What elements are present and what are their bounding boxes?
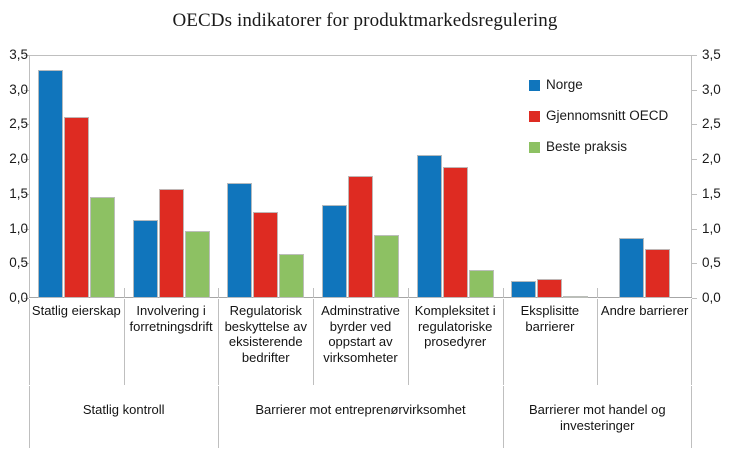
y-tick-right-7: [692, 55, 697, 56]
group-label-0: Statlig kontroll: [29, 386, 218, 418]
category-divider-2: [218, 288, 219, 298]
y-tick-label-right-0: 0,0: [702, 291, 730, 305]
y-tick-right-1: [692, 263, 697, 264]
category-label-3: Adminstrative byrder ved oppstart av vir…: [313, 299, 408, 365]
bar-6-0[interactable]: [619, 238, 644, 298]
y-tick-label-right-3: 1,5: [702, 187, 730, 201]
y-tick-right-5: [692, 124, 697, 125]
category-band-divider-6: [597, 299, 598, 385]
category-label-6: Andre barrierer: [597, 299, 692, 319]
y-tick-label-right-5: 2,5: [702, 117, 730, 131]
bar-5-2[interactable]: [563, 296, 588, 298]
legend-swatch-icon-2: [529, 142, 540, 153]
category-band-divider-3: [313, 299, 314, 385]
y-tick-right-3: [692, 194, 697, 195]
group-band-divider-1: [218, 386, 219, 448]
bar-5-1[interactable]: [537, 279, 562, 298]
bar-4-0[interactable]: [417, 155, 442, 298]
bar-2-1[interactable]: [253, 212, 278, 298]
bar-1-1[interactable]: [159, 189, 184, 298]
y-tick-label-left-4: 2,0: [0, 152, 28, 166]
group-label-band: Statlig kontrollBarrierer mot entreprenø…: [29, 386, 692, 448]
category-divider-4: [408, 288, 409, 298]
legend-item-1[interactable]: Gjennomsnitt OECD: [529, 109, 668, 123]
group-cell-2: Barrierer mot handel og investeringer: [503, 386, 692, 448]
y-tick-label-right-1: 0,5: [702, 256, 730, 270]
group-label-1: Barrierer mot entreprenørvirksomhet: [218, 386, 502, 418]
legend-item-0[interactable]: Norge: [529, 78, 668, 92]
bar-2-2[interactable]: [279, 254, 304, 298]
y-tick-right-6: [692, 90, 697, 91]
group-label-2: Barrierer mot handel og investeringer: [503, 386, 692, 434]
category-label-band: Statlig eierskapInvolvering i forretning…: [29, 299, 692, 385]
group-band-divider-0: [29, 386, 30, 448]
category-cell-1: Involvering i forretningsdrift: [124, 299, 219, 385]
y-tick-label-left-1: 0,5: [0, 256, 28, 270]
category-label-2: Regulatorisk beskyttelse av eksisterende…: [218, 299, 313, 365]
category-divider-6: [597, 288, 598, 298]
bar-1-0[interactable]: [133, 220, 158, 298]
category-divider-3: [313, 288, 314, 298]
y-tick-right-2: [692, 229, 697, 230]
legend-item-2[interactable]: Beste praksis: [529, 140, 668, 154]
category-band-divider-0: [29, 299, 30, 385]
y-tick-label-right-6: 3,0: [702, 83, 730, 97]
bar-0-1[interactable]: [64, 117, 89, 298]
legend-label-2: Beste praksis: [546, 140, 627, 154]
bar-5-0[interactable]: [511, 281, 536, 298]
y-tick-label-left-7: 3,5: [0, 48, 28, 62]
plot-top-border: [29, 55, 692, 56]
category-cell-3: Adminstrative byrder ved oppstart av vir…: [313, 299, 408, 385]
group-band-divider-2: [503, 386, 504, 448]
group-cell-1: Barrierer mot entreprenørvirksomhet: [218, 386, 502, 448]
category-cell-0: Statlig eierskap: [29, 299, 124, 385]
category-band-divider-4: [408, 299, 409, 385]
bar-3-2[interactable]: [374, 235, 399, 298]
y-tick-label-left-2: 1,0: [0, 222, 28, 236]
category-cell-5: Eksplisitte barrierer: [503, 299, 598, 385]
y-tick-label-left-5: 2,5: [0, 117, 28, 131]
bar-2-0[interactable]: [227, 183, 252, 298]
category-cell-6: Andre barrierer: [597, 299, 692, 385]
bar-0-0[interactable]: [38, 70, 63, 298]
bar-1-2[interactable]: [185, 231, 210, 298]
bar-3-1[interactable]: [348, 176, 373, 298]
y-axis-right: [691, 55, 692, 298]
chart-title: OECDs indikatorer for produktmarkedsregu…: [0, 10, 730, 32]
category-band-divider-5: [503, 299, 504, 385]
y-tick-right-4: [692, 159, 697, 160]
bar-4-1[interactable]: [443, 167, 468, 298]
legend-swatch-icon-0: [529, 80, 540, 91]
category-divider-1: [124, 288, 125, 298]
y-axis-left: [29, 55, 30, 298]
category-divider-5: [503, 288, 504, 298]
y-tick-label-right-7: 3,5: [702, 48, 730, 62]
y-tick-right-0: [692, 298, 697, 299]
bar-6-1[interactable]: [645, 249, 670, 298]
y-tick-label-left-3: 1,5: [0, 187, 28, 201]
category-band-divider-1: [124, 299, 125, 385]
bar-3-0[interactable]: [322, 205, 347, 298]
group-cell-0: Statlig kontroll: [29, 386, 218, 448]
bar-4-2[interactable]: [469, 270, 494, 298]
category-band-divider-2: [218, 299, 219, 385]
y-tick-label-left-0: 0,0: [0, 291, 28, 305]
legend-label-0: Norge: [546, 78, 583, 92]
category-cell-4: Kompleksitet i regulatoriske prosedyrer: [408, 299, 503, 385]
y-tick-label-right-4: 2,0: [702, 152, 730, 166]
category-cell-2: Regulatorisk beskyttelse av eksisterende…: [218, 299, 313, 385]
category-label-1: Involvering i forretningsdrift: [124, 299, 219, 334]
group-band-divider-3: [691, 386, 692, 448]
y-tick-label-left-6: 3,0: [0, 83, 28, 97]
y-tick-label-right-2: 1,0: [702, 222, 730, 236]
category-label-0: Statlig eierskap: [29, 299, 124, 319]
legend-label-1: Gjennomsnitt OECD: [546, 109, 668, 123]
category-label-4: Kompleksitet i regulatoriske prosedyrer: [408, 299, 503, 350]
legend: NorgeGjennomsnitt OECDBeste praksis: [529, 78, 668, 171]
bar-0-2[interactable]: [90, 197, 115, 298]
category-band-divider-7: [691, 299, 692, 385]
legend-swatch-icon-1: [529, 111, 540, 122]
category-label-5: Eksplisitte barrierer: [503, 299, 598, 334]
